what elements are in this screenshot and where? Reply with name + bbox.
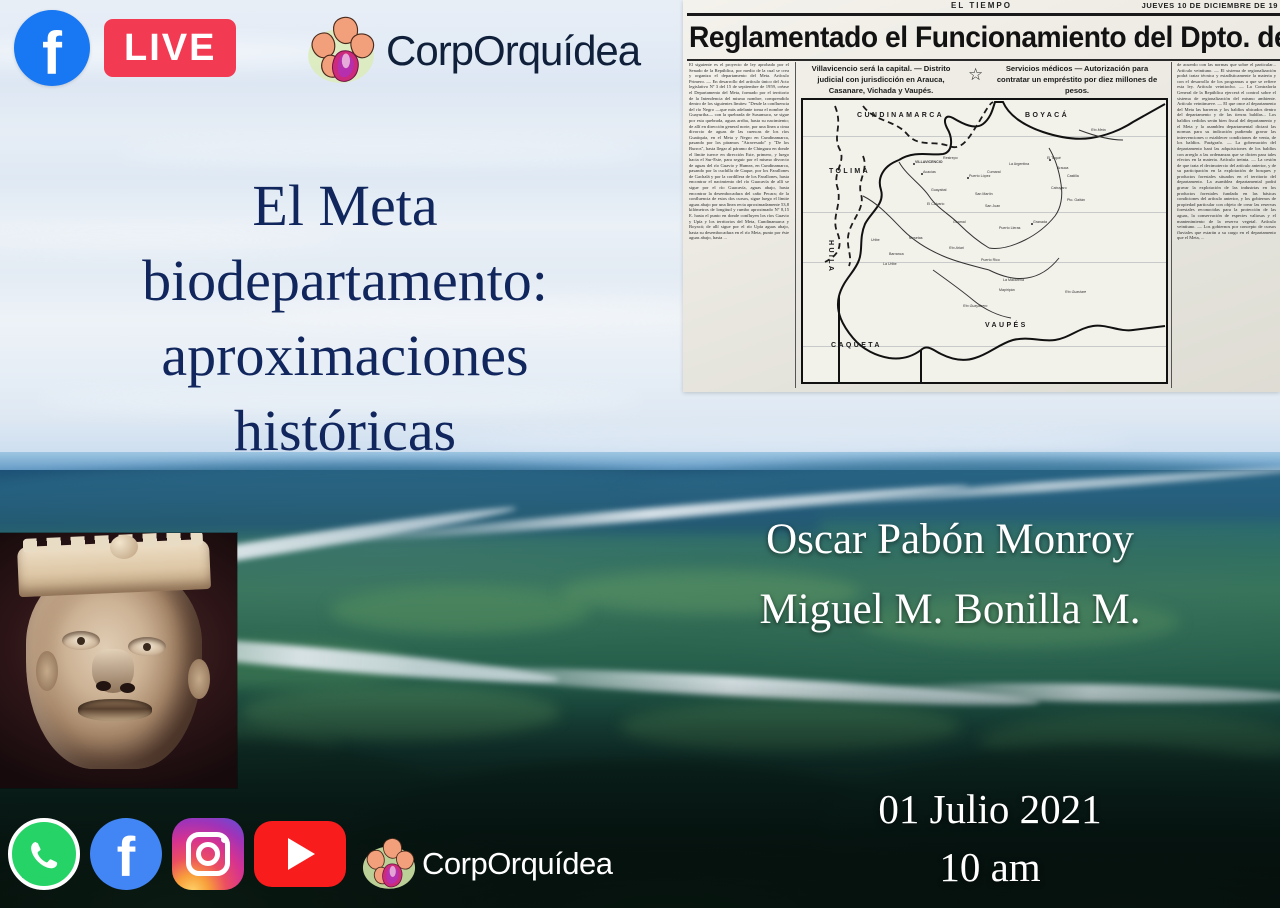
play-triangle-shape	[288, 838, 315, 870]
newspaper-subhead-left: Villavicencio será la capital. — Distrit…	[801, 63, 961, 96]
map-label-boyaca: BOYACÁ	[1025, 112, 1069, 119]
right-nostril-shape	[120, 683, 135, 693]
map-town-granada: Granada	[1033, 220, 1047, 224]
poster-title: El Meta biodepartamento: aproximaciones …	[0, 168, 690, 468]
map-town-mesetas: Mesetas	[909, 236, 923, 240]
newspaper-column-right: de acuerdo con las normas que sobre el p…	[1177, 62, 1276, 388]
map-town-la-uribe: La Uribe	[883, 262, 897, 266]
star-ornament-icon: ☆	[968, 66, 983, 83]
masthead-rule	[687, 13, 1280, 16]
map-town-la-macarena: La Macarena	[1003, 278, 1024, 282]
column-divider-2	[1171, 62, 1172, 388]
right-eye-shape	[128, 637, 166, 656]
map-town-acacias: Acacías	[923, 170, 936, 174]
whatsapp-icon[interactable]	[8, 818, 80, 890]
speaker-name-2: Miguel M. Bonilla M.	[640, 575, 1260, 645]
live-badge: LIVE	[104, 19, 236, 77]
instagram-icon[interactable]	[172, 818, 244, 890]
column-divider-1	[795, 62, 796, 388]
headline-rule	[687, 59, 1280, 61]
instagram-lens-shape	[196, 842, 220, 866]
corporquidea-wordmark-bottom: CorpOrquídea	[422, 846, 612, 882]
map-town-barranca: Barranca	[889, 252, 904, 256]
map-town-guamal: Guamal	[953, 220, 966, 224]
map-geometry	[803, 100, 1166, 382]
artifact-photo	[0, 533, 237, 788]
newspaper-date: JUEVES 10 DE DICIEMBRE DE 19	[1142, 1, 1278, 10]
map-river-guaviare: Río Guaviare	[1065, 290, 1086, 294]
youtube-icon[interactable]	[254, 821, 346, 887]
left-ear-shape	[36, 651, 58, 691]
instagram-dot-shape	[221, 836, 228, 843]
corporquidea-logo-bottom: CorpOrquídea	[358, 833, 612, 895]
newspaper-clipping: EL TIEMPO JUEVES 10 DE DICIEMBRE DE 19 R…	[683, 0, 1280, 392]
map-town-puerto-lopez: Puerto López	[969, 174, 990, 178]
speakers-list: Oscar Pabón Monroy Miguel M. Bonilla M.	[640, 505, 1260, 645]
title-line-4: históricas	[0, 393, 690, 468]
corporquidea-logo-top: CorpOrquídea	[300, 8, 640, 94]
map-town-san-martin: San Martín	[975, 192, 993, 196]
map-label-tolima: TOLIMA	[829, 168, 870, 175]
event-date: 01 Julio 2021	[740, 780, 1240, 838]
map-town-puerto-lleras: Puerto Lleras	[999, 226, 1020, 230]
map-town-puerto-rico: Puerto Rico	[981, 258, 1000, 262]
map-town-san-juan: San Juan	[985, 204, 1000, 208]
event-datetime: 01 Julio 2021 10 am	[740, 780, 1240, 896]
newspaper-subhead-right: Servicios médicos — Autorización para co…	[991, 63, 1163, 96]
map-river-guayabero: Río Guayabero	[963, 304, 987, 308]
facebook-live-badge: f LIVE	[14, 10, 236, 86]
map-town-la-argentina: La Argentina	[1009, 162, 1029, 166]
right-ear-shape	[188, 659, 210, 699]
map-town-arauca: Arauca	[1057, 166, 1068, 170]
title-line-3: aproximaciones	[0, 318, 690, 393]
poster-root: f LIVE CorpOrquídea El Meta biodepartame…	[0, 0, 1280, 908]
left-eye-shape	[62, 631, 100, 650]
map-label-caqueta: CAQUETA	[831, 342, 882, 349]
map-town-guayabal: Guayabal	[931, 188, 946, 192]
title-line-2: biodepartamento:	[0, 243, 690, 318]
facebook-f-glyph: f	[14, 22, 90, 86]
newspaper-column-left: El siguiente es el proyecto de ley aprob…	[689, 62, 789, 388]
map-town-cumaral: Cumaral	[987, 170, 1001, 174]
facebook-f-glyph-bottom: f	[90, 827, 162, 887]
live-label: LIVE	[124, 27, 216, 70]
left-nostril-shape	[96, 681, 111, 691]
facebook-f-icon[interactable]: f	[14, 10, 90, 86]
newspaper-headline: Reglamentado el Funcionamiento del Dpto.…	[689, 18, 1245, 58]
map-town-el-calvario: El Calvario	[927, 202, 944, 206]
corporquidea-wordmark-top: CorpOrquídea	[386, 27, 640, 75]
orchid-flower-icon-bottom	[358, 833, 420, 895]
map-label-cundinamarca: CUNDINAMARCA	[857, 112, 944, 119]
newspaper-masthead: EL TIEMPO JUEVES 10 DE DICIEMBRE DE 19	[683, 0, 1280, 13]
title-line-1: El Meta	[0, 168, 690, 243]
speaker-name-1: Oscar Pabón Monroy	[640, 505, 1260, 575]
meta-department-map: CUNDINAMARCA BOYACÁ TOLIMA HUILA CAQUETA…	[801, 98, 1168, 384]
event-time: 10 am	[740, 838, 1240, 896]
map-town-castilla: Castilla	[1067, 174, 1079, 178]
map-town-villavicencio: VILLAVICENCIO	[915, 160, 943, 164]
map-town-puerto-gaitan: Pto. Gaitán	[1067, 198, 1085, 202]
map-river-meta: Río Meta	[1091, 128, 1106, 132]
orchid-flower-icon	[300, 8, 382, 94]
mouth-shape	[78, 699, 152, 721]
map-town-uribe: Uribe	[871, 238, 880, 242]
social-icon-row: f	[8, 818, 346, 890]
facebook-icon[interactable]: f	[90, 818, 162, 890]
map-label-vaupes: VAUPÉS	[985, 322, 1028, 329]
map-town-mapiripan: Mapiripán	[999, 288, 1015, 292]
map-town-restrepo: Restrepo	[943, 156, 958, 160]
map-label-huila: HUILA	[827, 240, 834, 273]
map-river-ariari: Río Ariari	[949, 246, 964, 250]
map-town-cabuyaro: Cabuyaro	[1051, 186, 1067, 190]
